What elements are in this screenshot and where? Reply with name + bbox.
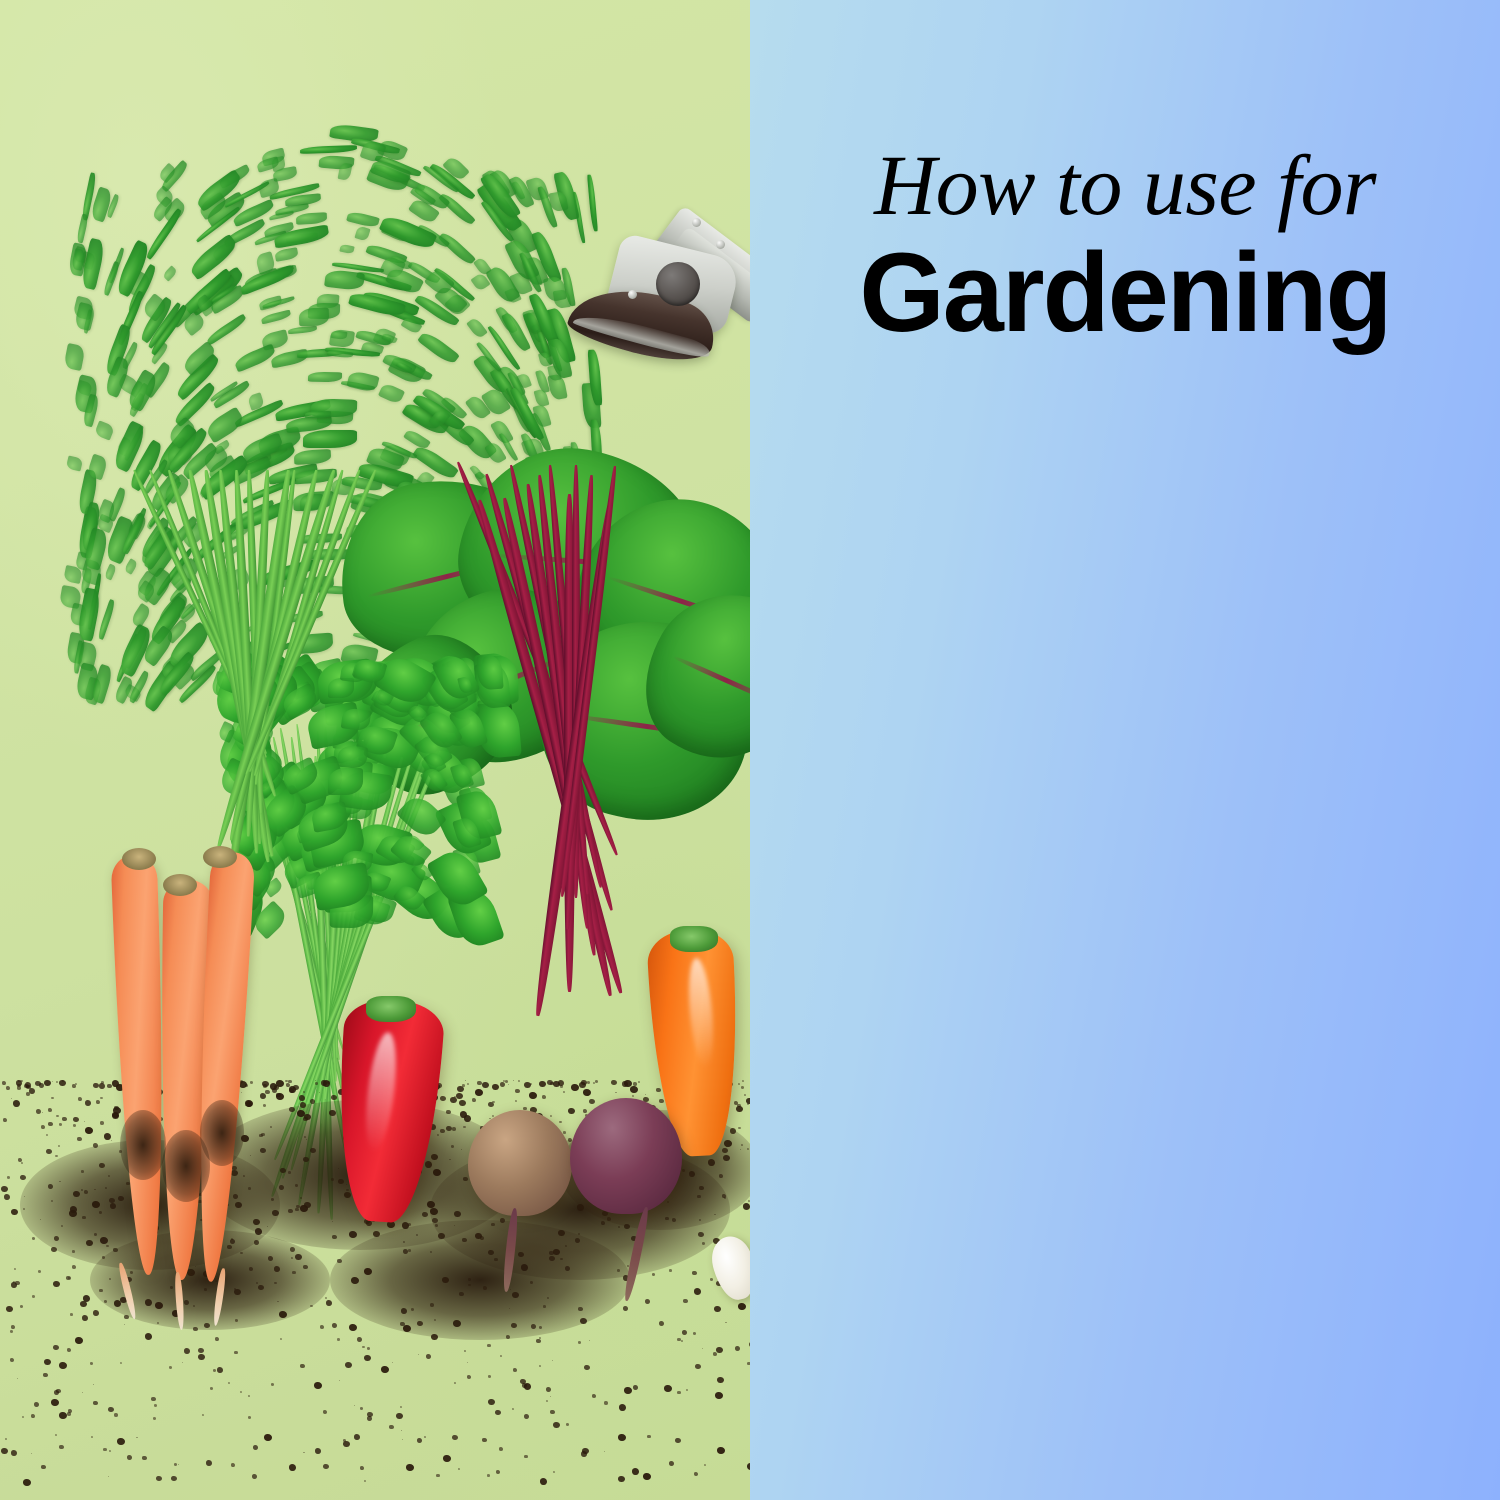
soil-speck (467, 1362, 468, 1363)
soil-speck (505, 1080, 508, 1083)
soil-speck (171, 1476, 177, 1481)
soil-speck (337, 1338, 340, 1341)
soil-speck (531, 1324, 536, 1329)
soil-speck (315, 1082, 318, 1085)
soil-speck (235, 1319, 238, 1322)
carrot-frond (346, 370, 379, 394)
soil-speck (578, 1233, 580, 1235)
soil-speck (482, 1082, 489, 1088)
vegetable-photo-panel (0, 0, 750, 1500)
soil-speck (515, 1089, 520, 1093)
soil-speck (5, 1438, 7, 1440)
soil-speck (403, 1325, 411, 1332)
carrot-frond (260, 309, 291, 324)
soil-speck (747, 1148, 749, 1150)
soil-speck (592, 1394, 596, 1398)
soil-speck (463, 1177, 468, 1181)
soil-speck (495, 1410, 501, 1415)
soil-speck (41, 1125, 45, 1129)
soil-speck (463, 1126, 466, 1128)
soil-speck (11, 1282, 17, 1288)
soil-speck (51, 1399, 59, 1406)
soil-speck (62, 1117, 67, 1121)
soil-speck (354, 1434, 360, 1440)
soil-speck (127, 1455, 132, 1460)
soil-speck (345, 1362, 352, 1368)
soil-speck (279, 1311, 287, 1318)
soil-speck (51, 1097, 54, 1099)
soil-speck (568, 1108, 575, 1114)
soil-speck (500, 1082, 505, 1087)
soil-speck (130, 1271, 133, 1274)
soil-speck (500, 1218, 505, 1223)
carrot-frond (300, 145, 357, 154)
soil-speck (553, 1422, 560, 1428)
soil-speck (717, 1377, 724, 1383)
soil-speck (91, 1436, 93, 1438)
soil-speck (452, 1127, 456, 1131)
soil-speck (511, 1323, 517, 1328)
soil-speck (289, 1107, 295, 1112)
soil-speck (210, 1387, 213, 1390)
soil-speck (59, 1445, 64, 1449)
carrot-crown (122, 848, 156, 870)
soil-speck (11, 1209, 18, 1215)
soil-speck (373, 1231, 380, 1237)
soil-speck (362, 1346, 365, 1348)
soil-speck (154, 1404, 157, 1407)
soil-speck (581, 1080, 587, 1085)
soil-speck (735, 1346, 740, 1351)
carrot-frond (66, 455, 84, 471)
soil-speck (638, 1081, 640, 1083)
soil-speck (92, 1201, 100, 1208)
soil-speck (155, 1302, 163, 1309)
soil-speck (392, 1362, 393, 1363)
soil-speck (215, 1337, 219, 1341)
soil-speck (93, 1143, 98, 1148)
soil-speck (274, 1266, 280, 1272)
soil-speck (204, 1288, 207, 1291)
soil-speck (110, 1203, 116, 1209)
soil-speck (51, 1247, 57, 1252)
soil-speck (622, 1081, 628, 1087)
soil-speck (61, 1225, 63, 1227)
soil-speck (2, 1081, 6, 1085)
soil-speck (482, 1438, 487, 1442)
soil-speck (430, 1208, 438, 1215)
soil-speck (198, 1348, 204, 1353)
soil-speck (695, 1364, 701, 1369)
soil-speck (217, 1367, 223, 1373)
soil-speck (124, 1324, 125, 1325)
soil-speck (337, 1259, 342, 1263)
soil-speck (704, 1464, 706, 1466)
soil-speck (82, 1392, 83, 1393)
soil-speck (303, 1452, 305, 1453)
soil-speck (206, 1460, 212, 1466)
soil-speck (310, 1099, 315, 1104)
soil-speck (243, 1175, 245, 1177)
soil-speck (11, 1325, 15, 1329)
soil-speck (38, 1270, 41, 1273)
soil-speck (351, 1277, 359, 1284)
soil-speck (464, 1115, 471, 1122)
soil-speck (677, 1338, 681, 1341)
soil-speck (1, 1448, 8, 1454)
soil-speck (468, 1284, 471, 1286)
soil-speck (21, 1162, 23, 1164)
soil-speck (702, 1348, 703, 1349)
soil-speck (62, 1080, 64, 1082)
carrot-frond (296, 212, 328, 225)
soil-speck (99, 1163, 105, 1168)
soil-speck (349, 1231, 357, 1238)
soil-speck (632, 1095, 634, 1097)
soil-speck (332, 1323, 337, 1328)
soil-speck (274, 1282, 277, 1284)
carrot-soil (200, 1100, 244, 1166)
soil-speck (559, 1121, 562, 1123)
soil-speck (452, 1435, 458, 1440)
soil-speck (682, 1330, 687, 1335)
soil-speck (611, 1080, 617, 1085)
soil-speck (459, 1292, 464, 1296)
soil-speck (81, 1170, 84, 1173)
soil-speck (730, 1128, 736, 1134)
soil-speck (83, 1295, 90, 1302)
soil-speck (522, 1383, 527, 1388)
carrot-frond (303, 430, 357, 448)
soil-speck (82, 1315, 88, 1321)
soil-speck (103, 1448, 107, 1451)
soil-speck (630, 1086, 638, 1093)
soil-speck (446, 1126, 452, 1131)
soil-speck (747, 1103, 749, 1105)
soil-speck (432, 1218, 438, 1223)
orange-pepper-stem-cap (670, 926, 718, 952)
soil-speck (694, 1288, 701, 1295)
soil-speck (402, 1439, 403, 1440)
soil-speck (354, 1405, 355, 1406)
soil-speck (563, 1091, 565, 1093)
soil-speck (82, 1216, 86, 1219)
soil-speck (547, 1297, 549, 1299)
soil-speck (117, 1438, 125, 1445)
soil-speck (499, 1447, 503, 1451)
soil-speck (67, 1348, 71, 1352)
soil-speck (587, 1081, 590, 1084)
soil-speck (66, 1276, 71, 1280)
soil-speck (56, 1081, 58, 1083)
soil-speck (683, 1299, 688, 1303)
soil-speck (440, 1129, 445, 1133)
soil-speck (231, 1463, 235, 1467)
soil-speck (32, 1295, 35, 1298)
soil-speck (93, 1384, 94, 1385)
soil-speck (59, 1123, 62, 1126)
soil-speck (681, 1340, 683, 1342)
soil-speck (73, 1117, 79, 1122)
soil-speck (31, 1453, 32, 1454)
soil-speck (656, 1088, 661, 1092)
beetroot (570, 1098, 682, 1214)
soil-speck (521, 1264, 528, 1271)
soil-speck (228, 1382, 230, 1384)
carrot-frond (94, 420, 115, 440)
soil-speck (546, 1400, 548, 1402)
soil-speck (552, 1360, 553, 1361)
soil-speck (142, 1456, 147, 1460)
soil-speck (11, 1098, 12, 1099)
soil-speck (204, 1323, 210, 1328)
soil-speck (571, 1084, 579, 1091)
carrot-frond (162, 265, 178, 281)
soil-speck (109, 1198, 115, 1203)
soil-speck (539, 1337, 541, 1339)
soil-speck (118, 1196, 124, 1201)
soil-speck (694, 1472, 698, 1476)
soil-speck (491, 1223, 495, 1226)
soil-speck (202, 1414, 204, 1416)
soil-speck (659, 1099, 664, 1103)
soil-speck (431, 1154, 438, 1160)
soil-speck (105, 1187, 107, 1189)
soil-speck (93, 1310, 99, 1316)
soil-speck (320, 1325, 324, 1329)
soil-speck (46, 1149, 52, 1154)
soil-speck (46, 1134, 48, 1136)
soil-speck (566, 1423, 569, 1426)
soil-speck (114, 1413, 118, 1417)
soil-speck (151, 1397, 156, 1401)
soil-speck (235, 1202, 242, 1208)
soil-speck (193, 1327, 198, 1331)
soil-speck (546, 1387, 551, 1392)
soil-speck (108, 1476, 109, 1477)
soil-speck (381, 1366, 389, 1373)
soil-speck (288, 1171, 291, 1174)
soil-speck (156, 1476, 162, 1481)
carrot-frond (324, 269, 365, 292)
headline-line-1: How to use for (750, 140, 1500, 230)
soil-speck (18, 1158, 22, 1162)
soil-speck (271, 1383, 274, 1386)
soil-speck (494, 1258, 498, 1261)
soil-speck (4, 1194, 10, 1200)
soil-speck (18, 1080, 20, 1082)
soil-speck (304, 1202, 311, 1208)
soil-speck (72, 1250, 75, 1253)
soil-speck (187, 1269, 195, 1276)
soil-speck (75, 1337, 83, 1344)
soil-speck (578, 1341, 581, 1344)
soil-speck (291, 1257, 293, 1259)
soil-speck (7, 1176, 10, 1179)
headline-line-2: Gardening (758, 234, 1493, 352)
soil-speck (451, 1145, 454, 1148)
carrot-frond (466, 316, 488, 339)
soil-speck (524, 1414, 529, 1419)
soil-speck (472, 1098, 476, 1102)
soil-speck (77, 1137, 82, 1141)
soil-speck (276, 1080, 284, 1087)
soil-speck (17, 1378, 18, 1379)
soil-speck (178, 1464, 179, 1465)
carrot-frond (233, 343, 277, 372)
soil-speck (364, 1480, 366, 1482)
soil-speck (31, 1414, 35, 1418)
soil-speck (509, 1308, 510, 1309)
soil-speck (402, 1222, 409, 1229)
soil-speck (483, 1286, 487, 1290)
soil-speck (300, 1102, 306, 1108)
soil-speck (84, 1121, 85, 1122)
soil-speck (367, 1412, 373, 1417)
soil-speck (260, 1148, 266, 1153)
soil-speck (290, 1247, 295, 1252)
soil-speck (184, 1348, 190, 1354)
soil-speck (457, 1086, 464, 1092)
soil-speck (48, 1122, 53, 1126)
soil-speck (73, 1124, 76, 1127)
soil-speck (587, 1094, 589, 1096)
soil-speck (692, 1271, 697, 1275)
soil-speck (303, 1091, 305, 1093)
soil-speck (85, 1127, 93, 1134)
soil-speck (44, 1080, 51, 1086)
soil-speck (645, 1299, 650, 1304)
poster-canvas: How to use for Gardening #1: Mix 4 to 5 … (0, 0, 1500, 1500)
carrot-frond (294, 449, 332, 465)
soil-speck (323, 1410, 327, 1414)
soil-speck (55, 1155, 58, 1157)
soil-speck (411, 1308, 414, 1311)
soil-speck (659, 1321, 664, 1326)
soil-speck (184, 1300, 189, 1305)
soil-speck (349, 1324, 357, 1331)
soil-speck (702, 1242, 705, 1245)
soil-speck (403, 1249, 408, 1254)
soil-speck (580, 1318, 587, 1324)
soil-speck (241, 1092, 242, 1093)
headline-block: How to use for Gardening (750, 140, 1500, 352)
soil-speck (304, 1136, 306, 1138)
soil-speck (618, 1226, 620, 1228)
soil-speck (258, 1285, 264, 1290)
soil-speck (73, 1191, 80, 1197)
soil-speck (300, 1197, 302, 1199)
soil-speck (360, 1407, 363, 1410)
soil-speck (254, 1240, 259, 1245)
soil-speck (245, 1100, 253, 1107)
soil-speck (589, 1099, 595, 1104)
soil-speck (84, 1190, 88, 1194)
soil-speck (736, 1106, 743, 1112)
soil-speck (230, 1239, 235, 1244)
soil-speck (248, 1416, 251, 1419)
soil-speck (295, 1208, 299, 1211)
soil-speck (427, 1201, 435, 1208)
soil-speck (32, 1237, 35, 1240)
soil-speck (288, 1209, 293, 1213)
soil-speck (549, 1256, 555, 1261)
soil-speck (742, 1080, 744, 1082)
soil-speck (406, 1464, 414, 1471)
soil-speck (724, 1140, 732, 1147)
soil-speck (408, 1249, 411, 1252)
soil-speck (93, 1401, 98, 1405)
soil-speck (467, 1375, 471, 1379)
soil-speck (23, 1479, 31, 1486)
soil-speck (90, 1362, 93, 1365)
soil-speck (48, 1184, 53, 1189)
soil-speck (29, 1088, 35, 1094)
carrot-crown (163, 874, 197, 896)
carrot-frond (305, 411, 331, 418)
carrot-frond (274, 247, 299, 262)
carrot-frond (63, 343, 85, 371)
soil-speck (48, 1108, 52, 1112)
soil-speck (193, 1305, 195, 1307)
soil-speck (59, 1362, 67, 1369)
soil-speck (319, 1092, 320, 1093)
carrot-frond (339, 244, 354, 255)
soil-speck (70, 1313, 73, 1316)
soil-speck (480, 1236, 484, 1240)
soil-speck (41, 1465, 46, 1469)
soil-speck (14, 1268, 16, 1270)
soil-speck (112, 1113, 119, 1119)
soil-speck (430, 1303, 434, 1307)
soil-speck (722, 1148, 728, 1153)
soil-speck (743, 1203, 750, 1210)
soil-speck (512, 1408, 514, 1410)
soil-speck (249, 1267, 253, 1271)
soil-speck (248, 1395, 250, 1397)
soil-speck (675, 1438, 681, 1443)
soil-speck (512, 1292, 519, 1298)
carrot-crown (203, 846, 237, 868)
soil-speck (454, 1382, 456, 1384)
soil-speck (563, 1131, 566, 1134)
soil-speck (364, 1355, 371, 1361)
pruning-shears-icon (556, 196, 750, 446)
soil-speck (431, 1334, 438, 1340)
soil-speck (259, 1134, 263, 1137)
soil-speck (539, 1081, 546, 1087)
soil-speck (263, 1104, 266, 1107)
soil-speck (487, 1344, 491, 1347)
soil-speck (213, 1369, 216, 1372)
soil-speck (339, 1380, 340, 1381)
soil-speck (182, 1362, 183, 1363)
soil-speck (54, 1390, 59, 1395)
soil-speck (72, 1265, 76, 1269)
soil-speck (255, 1228, 262, 1235)
soil-speck (289, 1086, 296, 1093)
soil-speck (710, 1278, 713, 1281)
soil-speck (252, 1474, 257, 1479)
soil-speck (713, 1352, 717, 1356)
soil-speck (425, 1161, 432, 1168)
soil-speck (515, 1100, 517, 1102)
soil-speck (589, 1340, 590, 1341)
soil-speck (553, 1081, 560, 1087)
soil-speck (633, 1082, 637, 1086)
soil-speck (99, 1083, 105, 1089)
soil-speck (10, 1330, 13, 1333)
